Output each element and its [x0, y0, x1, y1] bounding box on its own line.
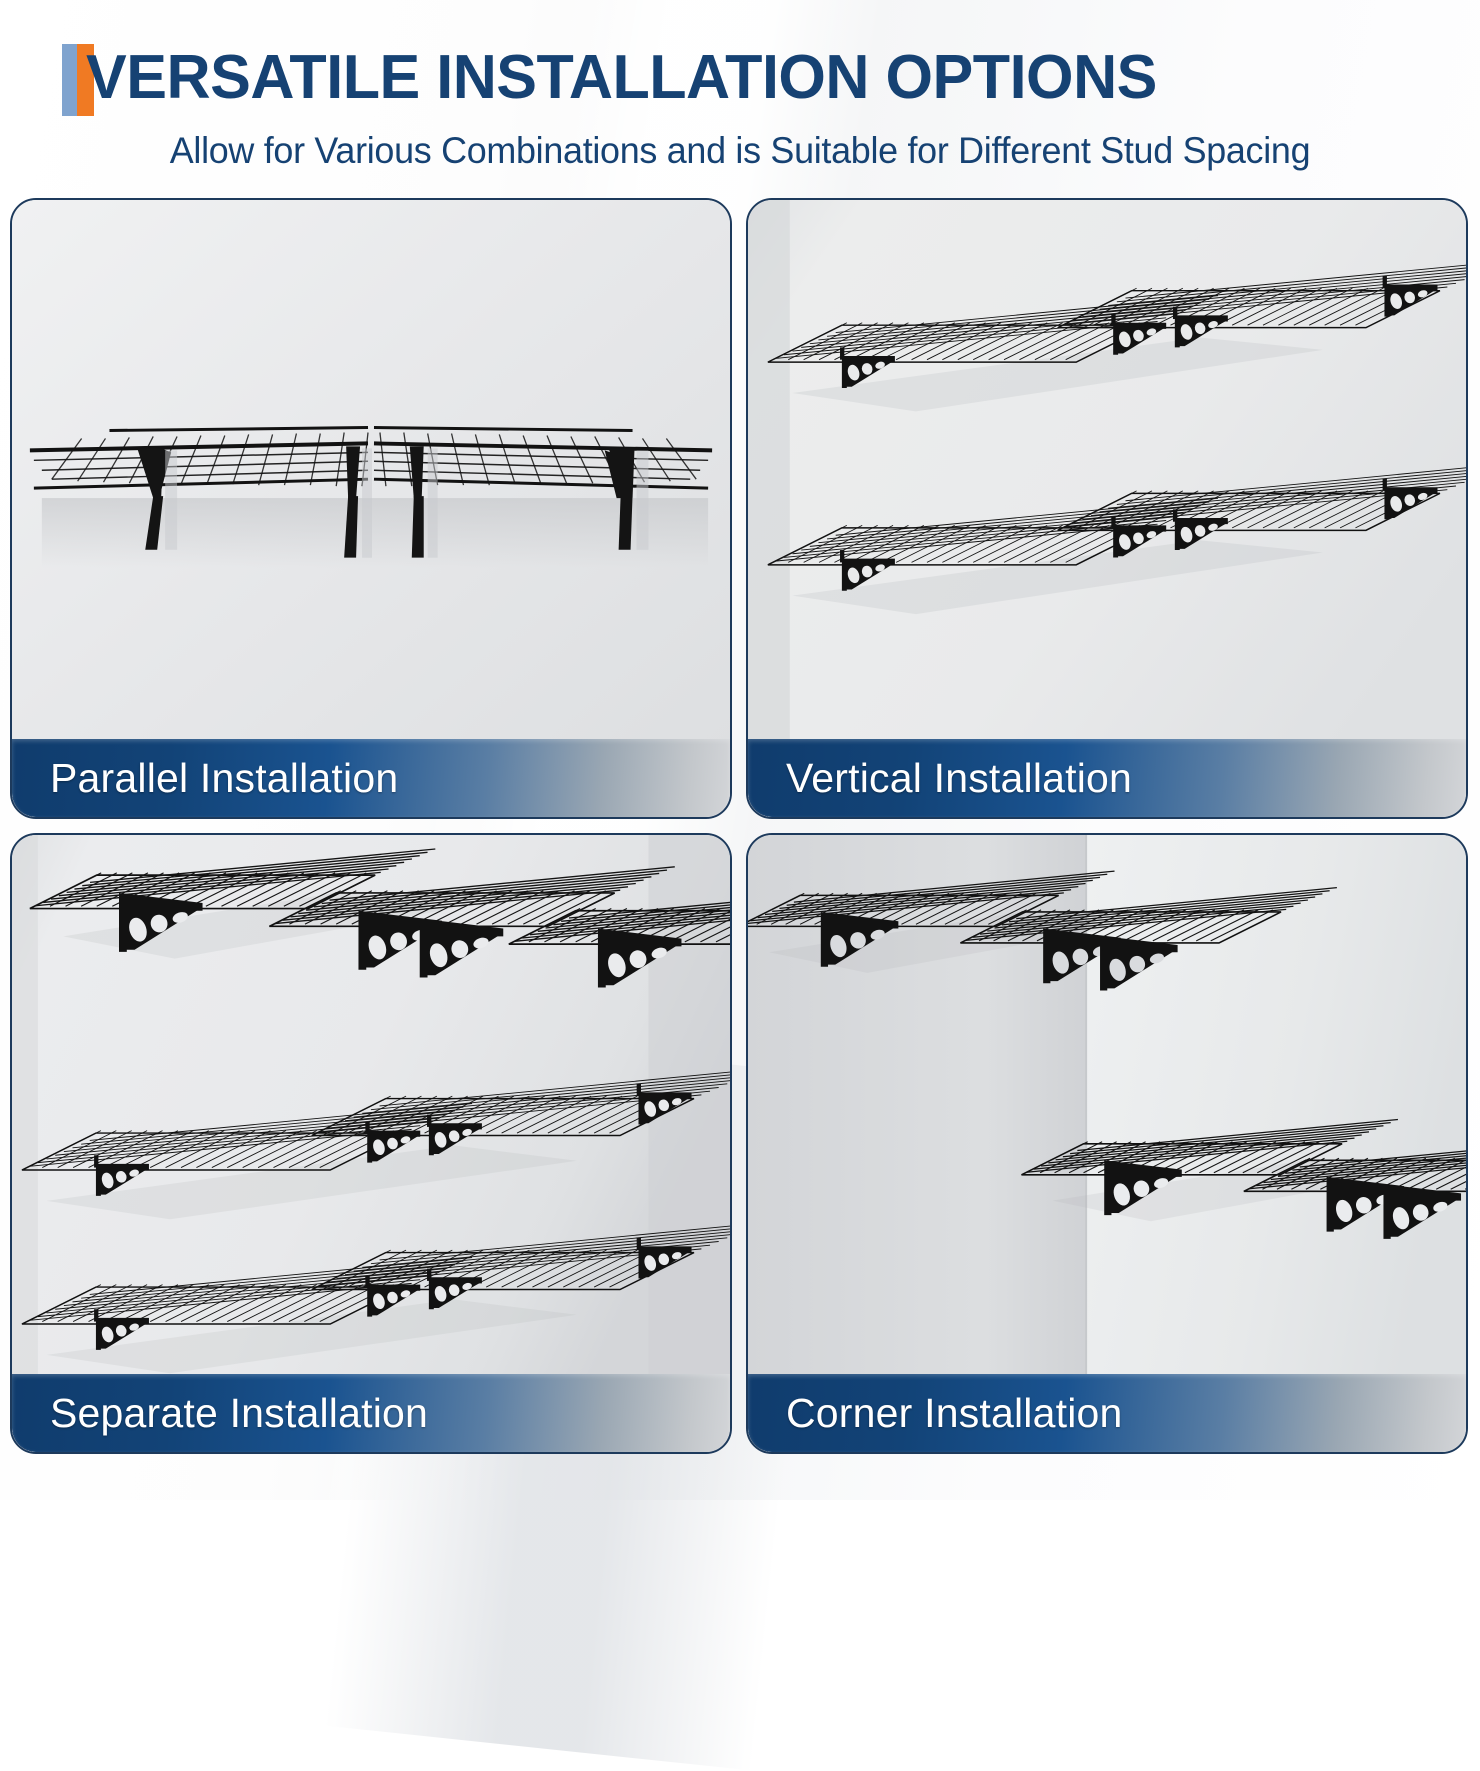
- caption-label: Vertical Installation: [748, 755, 1132, 802]
- caption-bar-parallel: Parallel Installation: [12, 739, 730, 817]
- caption-bar-corner: Corner Installation: [748, 1374, 1466, 1452]
- infographic-page: VERSATILE INSTALLATION OPTIONS Allow for…: [0, 0, 1480, 1500]
- caption-label: Corner Installation: [748, 1390, 1123, 1437]
- panel-parallel: Parallel Installation: [10, 198, 732, 819]
- accent-bar-blue: [62, 44, 77, 116]
- page-title: VERSATILE INSTALLATION OPTIONS: [86, 47, 1157, 109]
- header: VERSATILE INSTALLATION OPTIONS Allow for…: [0, 0, 1480, 172]
- page-subtitle: Allow for Various Combinations and is Su…: [22, 130, 1458, 172]
- panel-corner: Corner Installation: [746, 833, 1468, 1454]
- separate-installation-photo: [12, 835, 730, 1452]
- caption-label: Parallel Installation: [12, 755, 398, 802]
- panel-grid: Parallel Installation: [0, 198, 1480, 1454]
- caption-label: Separate Installation: [12, 1390, 428, 1437]
- title-row: VERSATILE INSTALLATION OPTIONS: [0, 34, 1480, 116]
- vertical-installation-photo: [748, 200, 1466, 817]
- parallel-installation-photo: [12, 200, 730, 817]
- caption-bar-separate: Separate Installation: [12, 1374, 730, 1452]
- panel-vertical: Vertical Installation: [746, 198, 1468, 819]
- panel-separate: Separate Installation: [10, 833, 732, 1454]
- caption-bar-vertical: Vertical Installation: [748, 739, 1466, 817]
- corner-installation-photo: [748, 835, 1466, 1452]
